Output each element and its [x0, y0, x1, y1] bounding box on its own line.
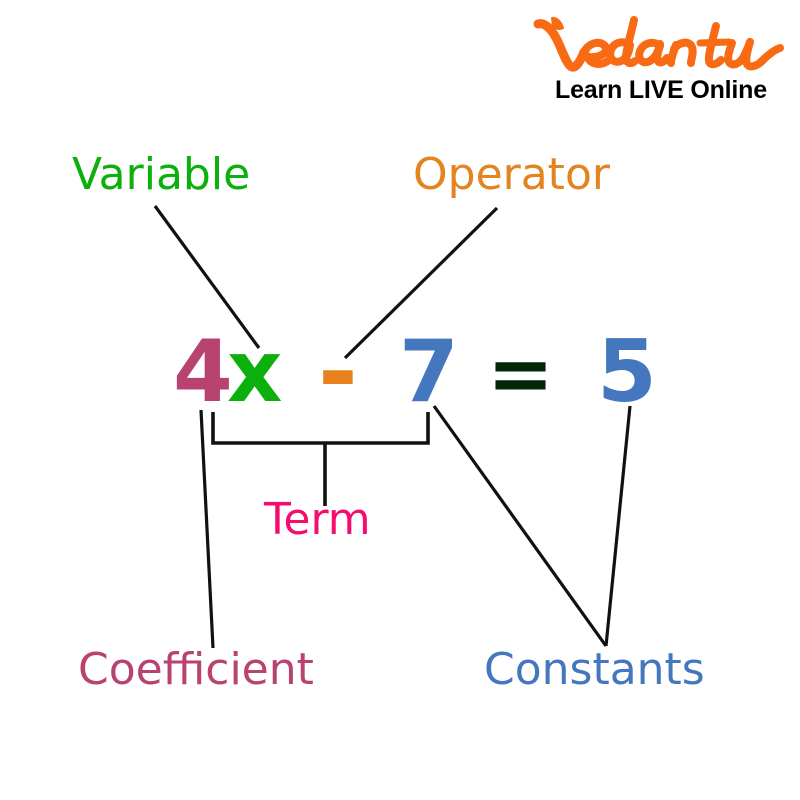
label-operator: Operator — [413, 150, 610, 200]
label-coefficient: Coefficient — [78, 645, 314, 695]
equation-token-constant-7: 7 — [399, 322, 459, 422]
brand-tagline: Learn LIVE Online — [530, 76, 792, 105]
leader-line-constant-5 — [606, 406, 630, 646]
equation-token-coefficient: 4 — [173, 322, 233, 422]
label-term: Term — [264, 495, 371, 545]
equation-token-variable: x — [227, 322, 282, 422]
leader-line-constant-7 — [434, 406, 606, 646]
equation-token-operator: - — [318, 322, 358, 422]
leader-line-coefficient — [201, 410, 213, 648]
diagram-canvas: Learn LIVE Online 4 x - 7 = 5 Variable O… — [0, 0, 800, 800]
label-variable: Variable — [72, 150, 250, 200]
equation: 4 x - 7 = 5 — [0, 322, 800, 432]
vedantu-logo: Learn LIVE Online — [530, 14, 792, 110]
vedantu-wordmark-icon — [530, 14, 792, 80]
equation-token-equals: = — [487, 322, 554, 426]
equation-token-constant-5: 5 — [597, 322, 657, 422]
label-constants: Constants — [484, 645, 705, 695]
